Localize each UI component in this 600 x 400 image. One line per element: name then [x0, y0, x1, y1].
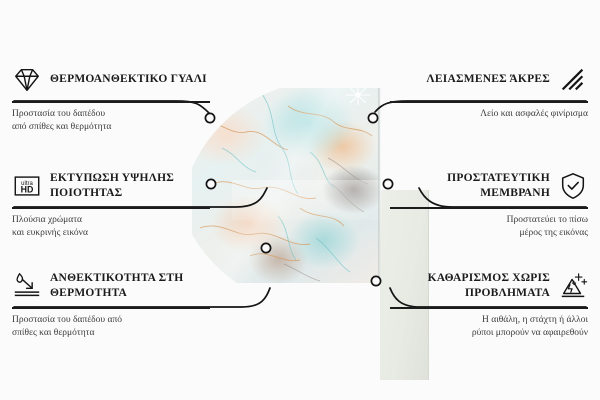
divider	[12, 101, 210, 103]
feature-subtitle: Η αιθάλη, η στάχτη ή άλλοιρύποι μπορούν …	[390, 314, 588, 341]
feature-protective-membrane[interactable]: ΠΡΟΣΤΑΤΕΥΤΙΚΗ ΜΕΜΒΡΑΝΗ Προστατεύει το πί…	[390, 168, 588, 240]
feature-easy-cleaning[interactable]: ΚΑΘΑΡΙΣΜΟΣ ΧΩΡΙΣ ΠΡΟΒΛΗΜΑΤΑ Η αιθάλη, η …	[390, 268, 588, 340]
feature-subtitle: Προστατεύει το πίσωμέρος της εικόνας	[390, 214, 588, 241]
connector-dot-right-3	[371, 276, 380, 285]
smooth-edges-icon	[558, 65, 588, 95]
feature-header: ΠΡΟΣΤΑΤΕΥΤΙΚΗ ΜΕΜΒΡΑΝΗ	[390, 168, 588, 204]
feature-title: ΑΝΘΕΚΤΙΚΟΤΗΤΑ ΣΤΗ ΘΕΡΜΟΤΗΤΑ	[50, 271, 210, 301]
ultra-hd-icon: ultra HD	[12, 171, 42, 201]
feature-header: ΘΕΡΜΟΑΝΘΕΚΤΙΚΟ ΓΥΑΛΙ	[12, 62, 210, 98]
feature-title: ΘΕΡΜΟΑΝΘΕΚΤΙΚΟ ΓΥΑΛΙ	[50, 72, 207, 87]
feature-subtitle: Προστασία του δαπέδουαπό σπίθες και θερμ…	[12, 108, 210, 135]
divider	[12, 207, 210, 209]
divider	[390, 101, 588, 103]
feature-heat-resistant-glass[interactable]: ΘΕΡΜΟΑΝΘΕΚΤΙΚΟ ΓΥΑΛΙ Προστασία του δαπέδ…	[12, 62, 210, 134]
feature-header: ΛΕΙΑΣΜΕΝΕΣ ΆΚΡΕΣ	[390, 62, 588, 98]
feature-high-quality-print[interactable]: ultra HD ΕΚΤΥΠΩΣΗ ΥΨΗΛΗΣ ΠΟΙΟΤΗΤΑΣ Πλούσ…	[12, 168, 210, 240]
connector-dot-left-3	[261, 243, 270, 252]
feature-title: ΛΕΙΑΣΜΕΝΕΣ ΆΚΡΕΣ	[426, 72, 550, 87]
feature-subtitle: Λείο και ασφαλές φινίρισμα	[390, 108, 588, 121]
divider	[390, 207, 588, 209]
feature-subtitle: Πλούσια χρώματακαι ευκρινής εικόνα	[12, 214, 210, 241]
feature-header: ΚΑΘΑΡΙΣΜΟΣ ΧΩΡΙΣ ΠΡΟΒΛΗΜΑΤΑ	[390, 268, 588, 304]
shield-check-icon	[558, 171, 588, 201]
diamond-icon	[12, 65, 42, 95]
divider	[390, 307, 588, 309]
divider	[12, 307, 210, 309]
feature-title: ΕΚΤΥΠΩΣΗ ΥΨΗΛΗΣ ΠΟΙΟΤΗΤΑΣ	[50, 171, 210, 201]
heat-resistance-icon	[12, 271, 42, 301]
feature-title: ΚΑΘΑΡΙΣΜΟΣ ΧΩΡΙΣ ΠΡΟΒΛΗΜΑΤΑ	[390, 271, 550, 301]
feature-heat-durability[interactable]: ΑΝΘΕΚΤΙΚΟΤΗΤΑ ΣΤΗ ΘΕΡΜΟΤΗΤΑ Προστασία το…	[12, 268, 210, 340]
infographic-canvas: ΘΕΡΜΟΑΝΘΕΚΤΙΚΟ ΓΥΑΛΙ Προστασία του δαπέδ…	[0, 0, 600, 400]
feature-title: ΠΡΟΣΤΑΤΕΥΤΙΚΗ ΜΕΜΒΡΑΝΗ	[390, 171, 550, 201]
feature-subtitle: Προστασία του δαπέδου απόσπίθες και θερμ…	[12, 314, 210, 341]
easy-cleaning-icon	[558, 271, 588, 301]
svg-text:HD: HD	[21, 185, 34, 195]
feature-smooth-edges[interactable]: ΛΕΙΑΣΜΕΝΕΣ ΆΚΡΕΣ Λείο και ασφαλές φινίρι…	[390, 62, 588, 121]
connector-dot-right-1	[368, 113, 377, 122]
feature-header: ΑΝΘΕΚΤΙΚΟΤΗΤΑ ΣΤΗ ΘΕΡΜΟΤΗΤΑ	[12, 268, 210, 304]
feature-header: ultra HD ΕΚΤΥΠΩΣΗ ΥΨΗΛΗΣ ΠΟΙΟΤΗΤΑΣ	[12, 168, 210, 204]
